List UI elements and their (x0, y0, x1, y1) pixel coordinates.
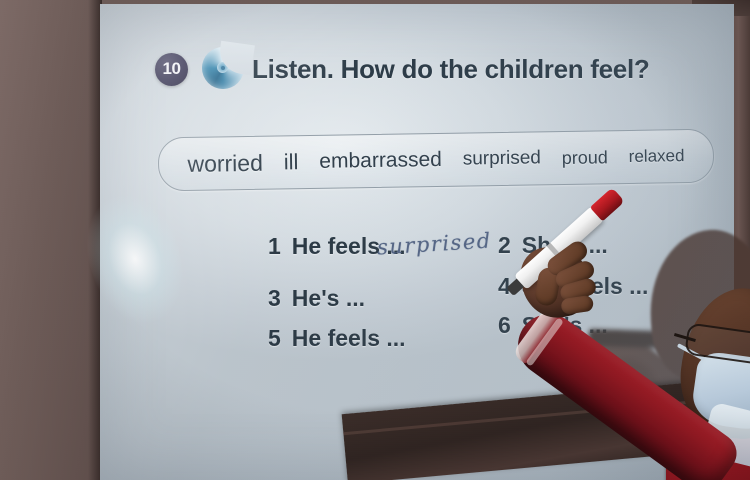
question-item-3: 3 He's ... (268, 285, 365, 312)
question-text: He's ... (292, 285, 365, 312)
question-number: 2 (498, 232, 511, 259)
question-text: She's ... (522, 232, 608, 259)
wall-left (0, 0, 102, 480)
whiteboard: 10 Listen. How do the children feel? wor… (100, 4, 734, 480)
question-item-6: 6 She's ... (498, 312, 608, 339)
question-number: 5 (268, 325, 281, 352)
question-number: 1 (268, 233, 281, 260)
question-number: 6 (498, 312, 511, 339)
question-text: She feels ... (522, 273, 649, 300)
question-item-4: 4 She feels ... (498, 273, 648, 300)
classroom-photo: 10 Listen. How do the children feel? wor… (0, 0, 750, 480)
question-number: 4 (498, 273, 511, 300)
question-item-5: 5 He feels ... (268, 325, 406, 352)
question-text: She's ... (522, 312, 608, 339)
question-item-2: 2 She's ... (498, 232, 608, 259)
question-text: He feels ... (292, 325, 406, 352)
question-number: 3 (268, 285, 281, 312)
